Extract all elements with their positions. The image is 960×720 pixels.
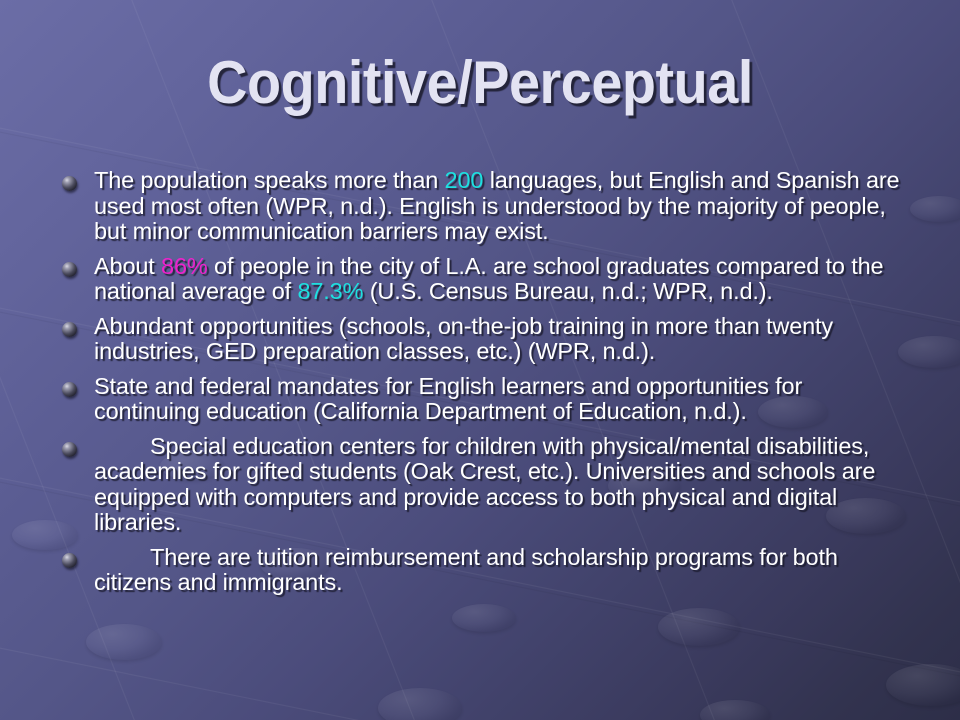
text-segment: About xyxy=(94,253,161,279)
background-node xyxy=(86,624,162,660)
bullet-list: The population speaks more than 200 lang… xyxy=(56,168,906,605)
text-segment: There are tuition reimbursement and scho… xyxy=(94,544,838,596)
bullet-item-graduation-rate: About 86% of people in the city of L.A. … xyxy=(56,254,906,305)
background-node xyxy=(452,604,516,632)
bullet-text: State and federal mandates for English l… xyxy=(94,374,906,425)
background-node xyxy=(886,664,960,706)
highlight-magenta: 86% xyxy=(161,253,208,279)
background-node xyxy=(378,688,462,720)
bullet-item-mandates: State and federal mandates for English l… xyxy=(56,374,906,425)
bullet-item-opportunities: Abundant opportunities (schools, on-the-… xyxy=(56,314,906,365)
background-node xyxy=(658,608,740,646)
bullet-text: There are tuition reimbursement and scho… xyxy=(94,545,906,596)
bullet-item-special-education: Special education centers for children w… xyxy=(56,434,906,536)
bullet-item-languages: The population speaks more than 200 lang… xyxy=(56,168,906,245)
sphere-bullet-icon xyxy=(62,442,77,457)
text-segment: The population speaks more than xyxy=(94,167,445,193)
text-segment: Special education centers for children w… xyxy=(94,433,875,536)
bullet-text: The population speaks more than 200 lang… xyxy=(94,168,906,245)
text-segment: Abundant opportunities (schools, on-the-… xyxy=(94,313,833,365)
highlight-cyan: 87.3% xyxy=(297,278,363,304)
background-node xyxy=(700,700,770,720)
sphere-bullet-icon xyxy=(62,553,77,568)
sphere-bullet-icon xyxy=(62,322,77,337)
bullet-text: Abundant opportunities (schools, on-the-… xyxy=(94,314,906,365)
sphere-bullet-icon xyxy=(62,262,77,277)
bullet-item-tuition: There are tuition reimbursement and scho… xyxy=(56,545,906,596)
slide-title: Cognitive/Perceptual xyxy=(34,48,927,117)
bullet-text: About 86% of people in the city of L.A. … xyxy=(94,254,906,305)
background-node xyxy=(898,336,960,368)
highlight-cyan: 200 xyxy=(445,167,484,193)
sphere-bullet-icon xyxy=(62,382,77,397)
presentation-slide: Cognitive/Perceptual The population spea… xyxy=(0,0,960,720)
sphere-bullet-icon xyxy=(62,176,77,191)
background-node xyxy=(910,196,960,222)
bullet-text: Special education centers for children w… xyxy=(94,434,906,536)
text-segment: (U.S. Census Bureau, n.d.; WPR, n.d.). xyxy=(363,278,772,304)
text-segment: State and federal mandates for English l… xyxy=(94,373,802,425)
